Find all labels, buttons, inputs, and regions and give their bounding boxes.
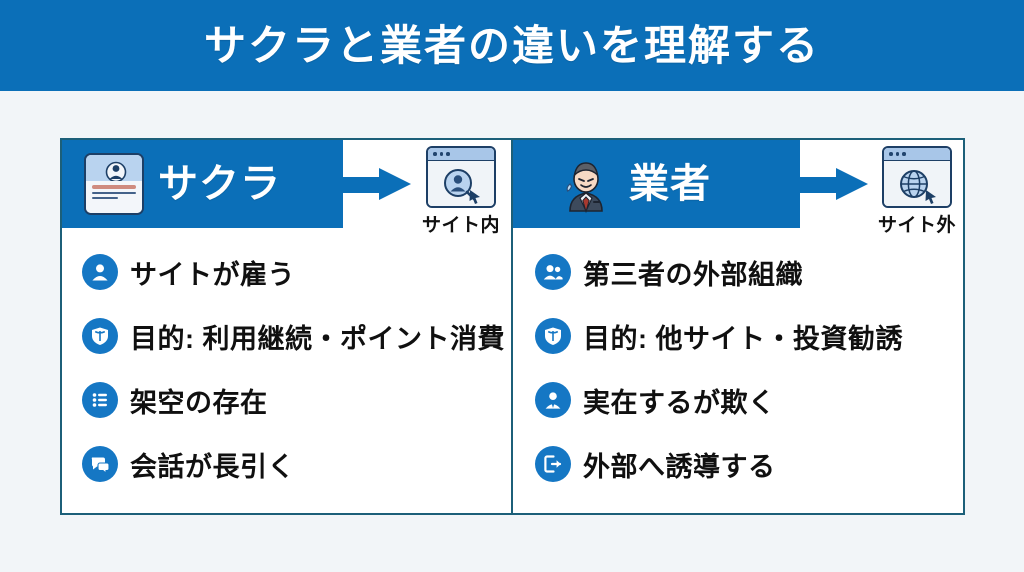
browser-window-person-search-icon bbox=[426, 146, 496, 208]
list-item: 架空の存在 bbox=[82, 368, 511, 432]
people-group-icon bbox=[535, 254, 571, 290]
panel-gyosha-title: 業者 bbox=[629, 164, 711, 204]
gyosha-feature-list: 第三者の外部組織 目的: 他サイト・投資勧誘 bbox=[513, 240, 963, 496]
panel-gyosha: 業者 サ bbox=[511, 140, 963, 513]
person-tie-icon bbox=[535, 382, 571, 418]
destination-outside-site: サイト外 bbox=[868, 146, 966, 237]
arrow-right-icon bbox=[343, 170, 411, 198]
browser-window-globe-icon bbox=[882, 146, 952, 208]
list-item: 目的: 利用継続・ポイント消費 bbox=[82, 304, 511, 368]
sakura-feature-list: サイトが雇う 目的: 利用継続・ポイント消費 bbox=[62, 240, 511, 496]
list-item: サイトが雇う bbox=[82, 240, 511, 304]
panel-sakura-title: サクラ bbox=[158, 164, 281, 204]
panel-sakura: サクラ サイト bbox=[62, 140, 511, 513]
list-item: 第三者の外部組織 bbox=[535, 240, 963, 304]
list-item: 目的: 他サイト・投資勧誘 bbox=[535, 304, 963, 368]
list-item: 会話が長引く bbox=[82, 432, 511, 496]
person-icon bbox=[82, 254, 118, 290]
panel-sakura-header: サクラ bbox=[62, 140, 343, 228]
arrow-right-icon bbox=[800, 170, 868, 198]
chat-bubble-icon bbox=[82, 446, 118, 482]
list-item-label: 架空の存在 bbox=[130, 381, 268, 420]
destination-inside-site-label: サイト内 bbox=[422, 210, 500, 237]
shield-icon bbox=[82, 318, 118, 354]
destination-inside-site: サイト内 bbox=[412, 146, 510, 237]
list-item-label: 会話が長引く bbox=[130, 445, 295, 484]
destination-outside-site-label: サイト外 bbox=[878, 210, 956, 237]
list-item-label: 目的: 他サイト・投資勧誘 bbox=[583, 317, 903, 356]
list-item-label: 外部へ誘導する bbox=[583, 445, 776, 484]
shield-icon bbox=[535, 318, 571, 354]
businessman-icon bbox=[557, 153, 615, 215]
list-item-label: サイトが雇う bbox=[130, 253, 295, 292]
id-card-person-icon bbox=[84, 153, 144, 215]
list-item: 外部へ誘導する bbox=[535, 432, 963, 496]
list-item-label: 実在するが欺く bbox=[583, 381, 776, 420]
list-icon bbox=[82, 382, 118, 418]
list-item-label: 目的: 利用継続・ポイント消費 bbox=[130, 317, 505, 356]
page-header-banner: サクラと業者の違いを理解する bbox=[0, 0, 1024, 91]
list-item: 実在するが欺く bbox=[535, 368, 963, 432]
panel-gyosha-header: 業者 bbox=[513, 140, 800, 228]
list-item-label: 第三者の外部組織 bbox=[583, 253, 803, 292]
comparison-card: サクラ サイト bbox=[60, 138, 965, 515]
sign-out-icon bbox=[535, 446, 571, 482]
page-title: サクラと業者の違いを理解する bbox=[204, 25, 820, 67]
